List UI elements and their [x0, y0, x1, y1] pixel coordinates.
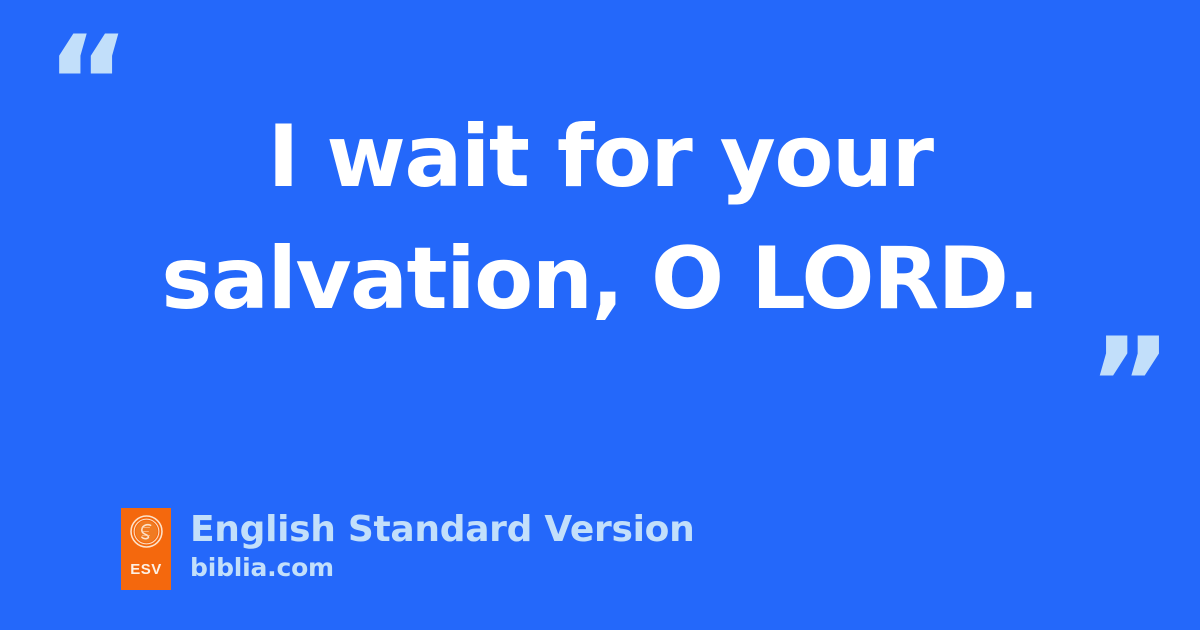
attribution-text: English Standard Version biblia.com	[190, 508, 694, 583]
bible-version-name: English Standard Version	[190, 510, 694, 550]
close-quote-icon: ”	[1088, 322, 1170, 450]
verse-share-card: “ I wait for your salvation, O LORD. ” E…	[0, 0, 1200, 630]
verse-line-1: I wait for your	[60, 96, 1140, 218]
esv-seal-icon	[130, 515, 163, 548]
source-website-link[interactable]: biblia.com	[190, 553, 694, 583]
attribution-footer: ESV English Standard Version biblia.com	[121, 508, 694, 590]
verse-text-block: I wait for your salvation, O LORD.	[60, 96, 1140, 340]
esv-badge-label: ESV	[130, 561, 162, 578]
verse-line-2: salvation, O LORD.	[60, 218, 1140, 340]
esv-badge[interactable]: ESV	[121, 508, 171, 590]
